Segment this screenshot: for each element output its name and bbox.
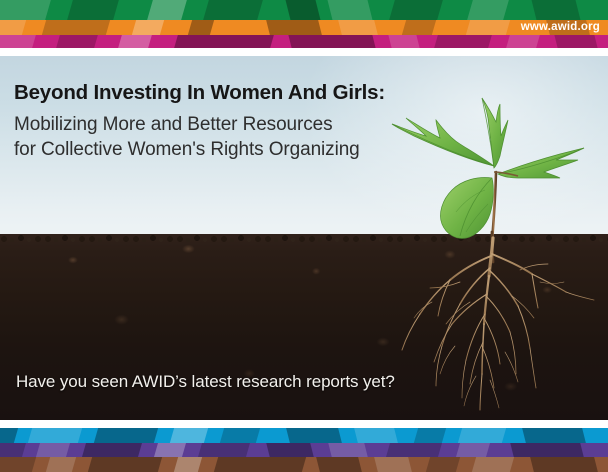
headline-title: Beyond Investing In Women And Girls:: [14, 80, 406, 106]
top-band-green: [0, 0, 608, 20]
hero-photo: Beyond Investing In Women And Girls: Mob…: [0, 56, 608, 420]
tagline-question: Have you seen AWID’s latest research rep…: [16, 372, 395, 392]
top-band-orange: [0, 20, 608, 35]
website-url[interactable]: www.awid.org: [521, 19, 600, 35]
awid-promo-banner: www.awid.org: [0, 0, 608, 472]
headline-block: Beyond Investing In Women And Girls: Mob…: [14, 80, 406, 162]
headline-title-text: Beyond Investing In Women And Girls: [14, 81, 378, 104]
top-color-bar: www.awid.org: [0, 0, 608, 48]
top-bar-separator: [0, 48, 608, 56]
top-band-magenta: [0, 35, 608, 48]
bottom-bar-separator: [0, 420, 608, 428]
headline-subtitle-line1: Mobilizing More and Better Resources: [14, 112, 406, 137]
bottom-color-bar: [0, 428, 608, 472]
headline-title-colon: :: [378, 81, 385, 104]
headline-subtitle-line2: for Collective Women's Rights Organizing: [14, 137, 406, 162]
bottom-band-brown: [0, 457, 608, 472]
bottom-band-cyan: [0, 428, 608, 443]
bottom-band-purple: [0, 443, 608, 457]
